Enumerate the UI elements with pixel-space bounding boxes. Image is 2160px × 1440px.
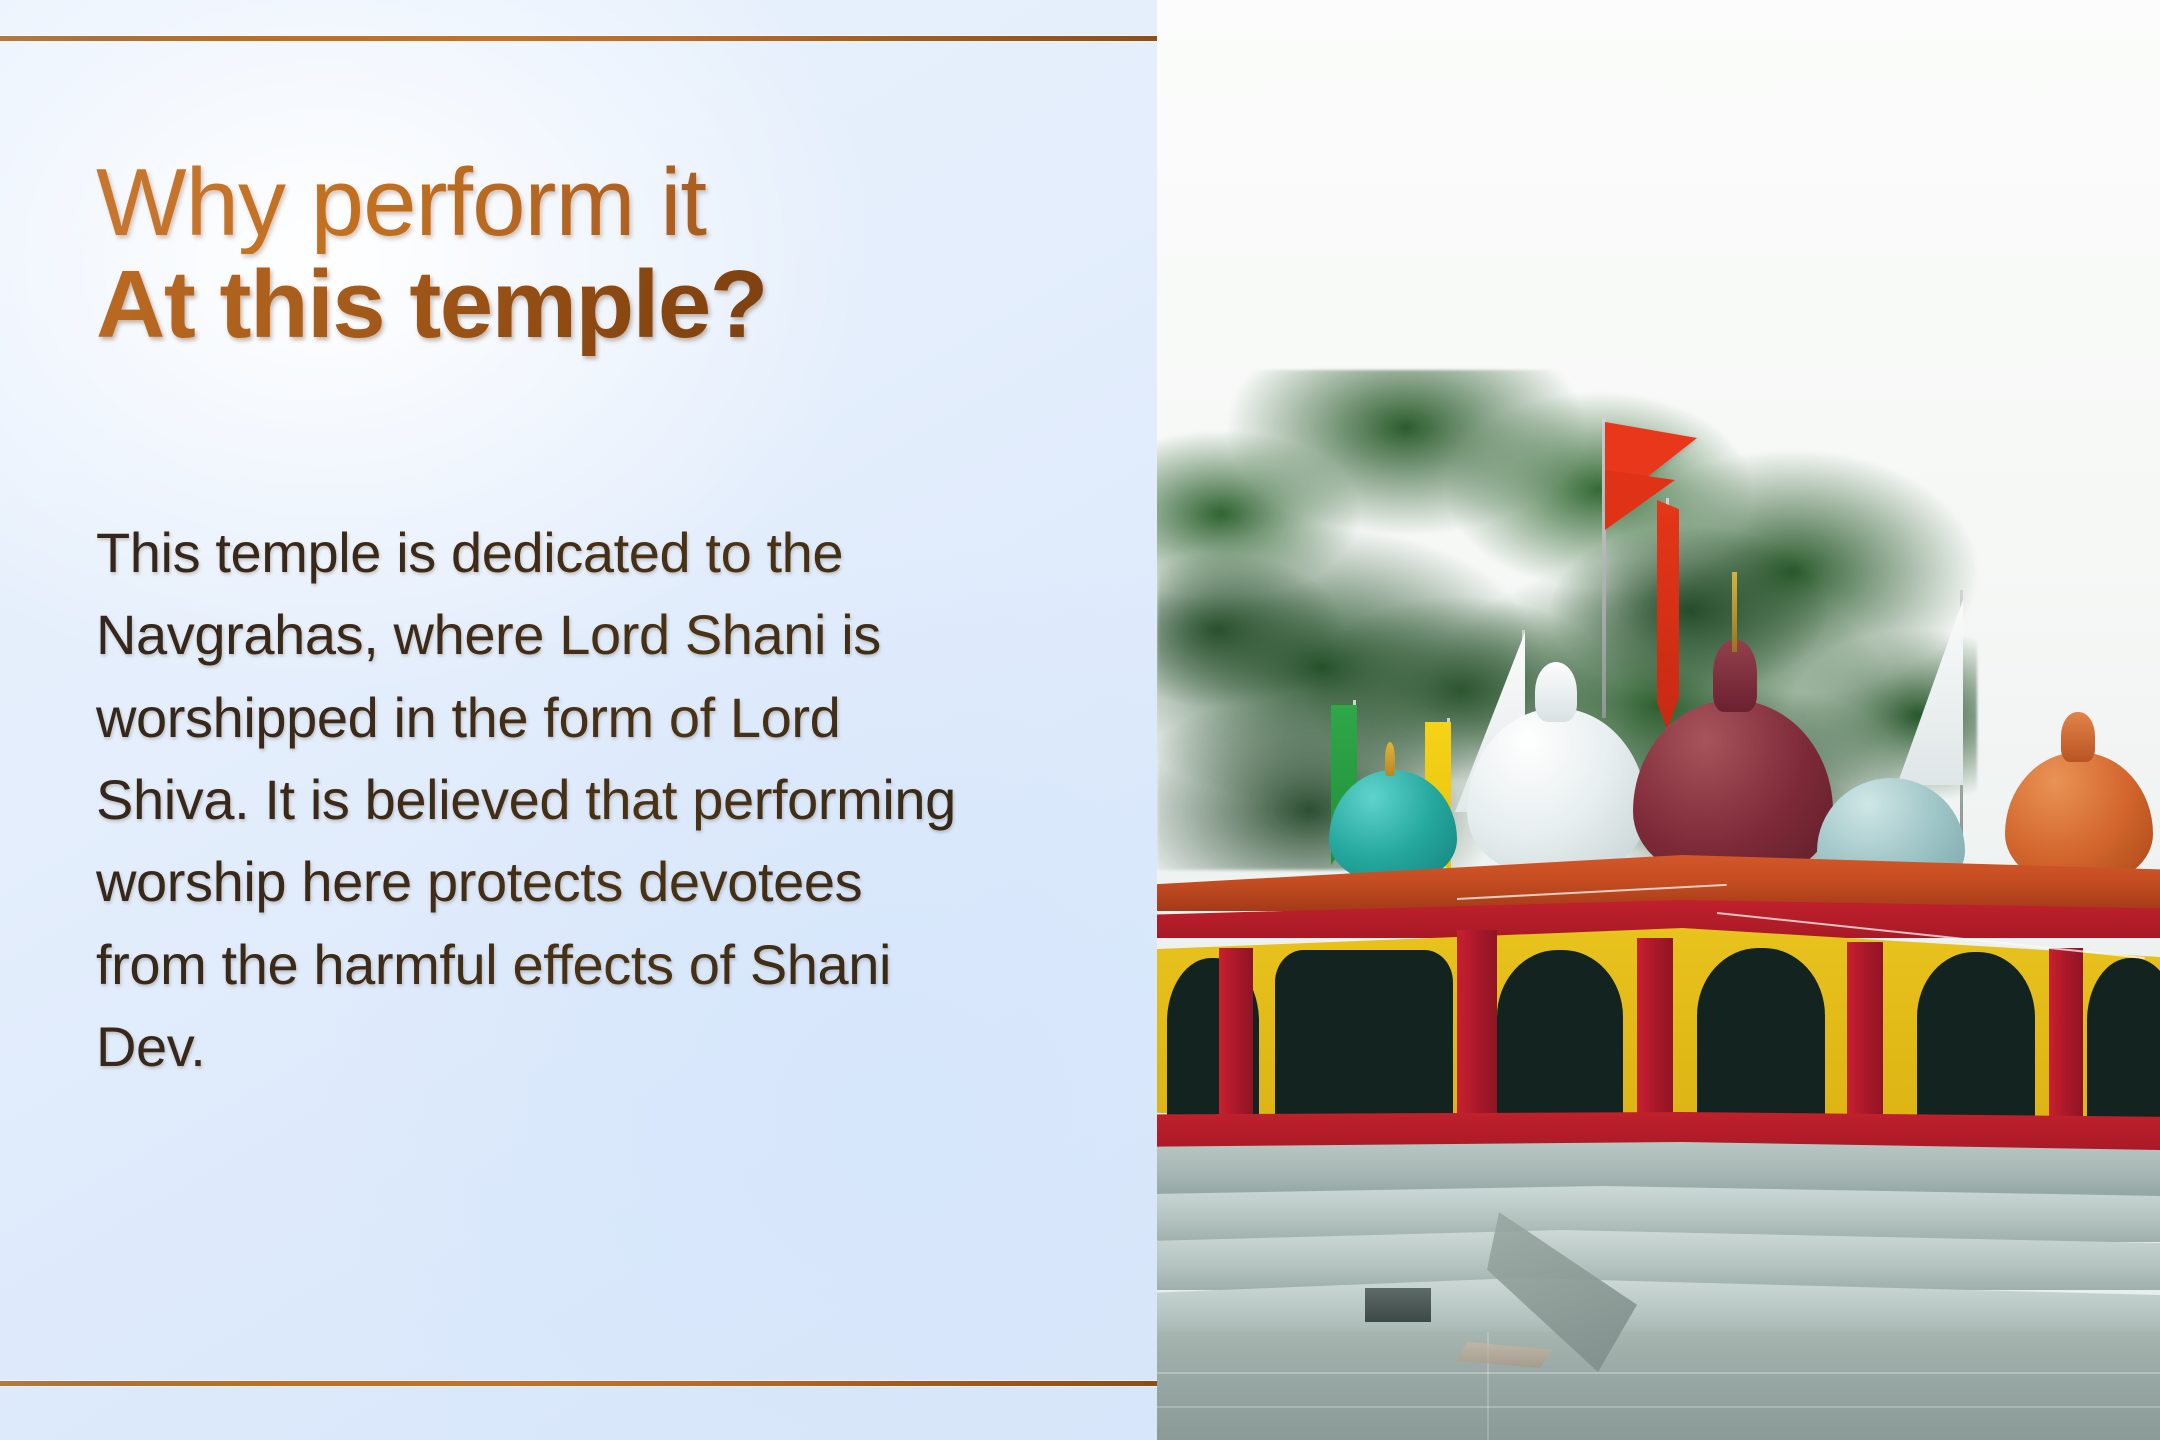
paving-line-2 — [1157, 1406, 2160, 1408]
headline-line-1: Why perform it — [96, 152, 1026, 254]
headline-block: Why perform it At this temple? — [96, 152, 1026, 356]
arch-right-3 — [1917, 952, 2035, 1124]
arch-right-4 — [2087, 958, 2160, 1124]
red-banner-flag — [1657, 500, 1679, 730]
temple-photograph — [1157, 0, 2160, 1440]
top-divider-rule — [0, 36, 1157, 41]
maroon-dome-spire — [1732, 572, 1737, 652]
teal-dome-finial — [1385, 742, 1395, 776]
debris-block — [1365, 1288, 1431, 1322]
white-dome-neck — [1535, 662, 1577, 722]
arch-right-2 — [1697, 948, 1825, 1126]
ground-paving — [1157, 1332, 2160, 1440]
arch-right-1 — [1497, 950, 1623, 1126]
page-title: Why perform it At this temple? — [96, 152, 1026, 356]
orange-dome-neck — [2061, 712, 2095, 762]
headline-line-2: At this temple? — [96, 254, 1026, 356]
text-panel: Why perform it At this temple? This temp… — [0, 0, 1157, 1440]
bottom-divider-rule — [0, 1381, 1157, 1386]
paving-line-1 — [1157, 1372, 2160, 1374]
body-paragraph: This temple is dedicated to the Navgraha… — [96, 512, 976, 1088]
slide-root: Why perform it At this temple? This temp… — [0, 0, 2160, 1440]
arch-left-2 — [1275, 950, 1453, 1130]
